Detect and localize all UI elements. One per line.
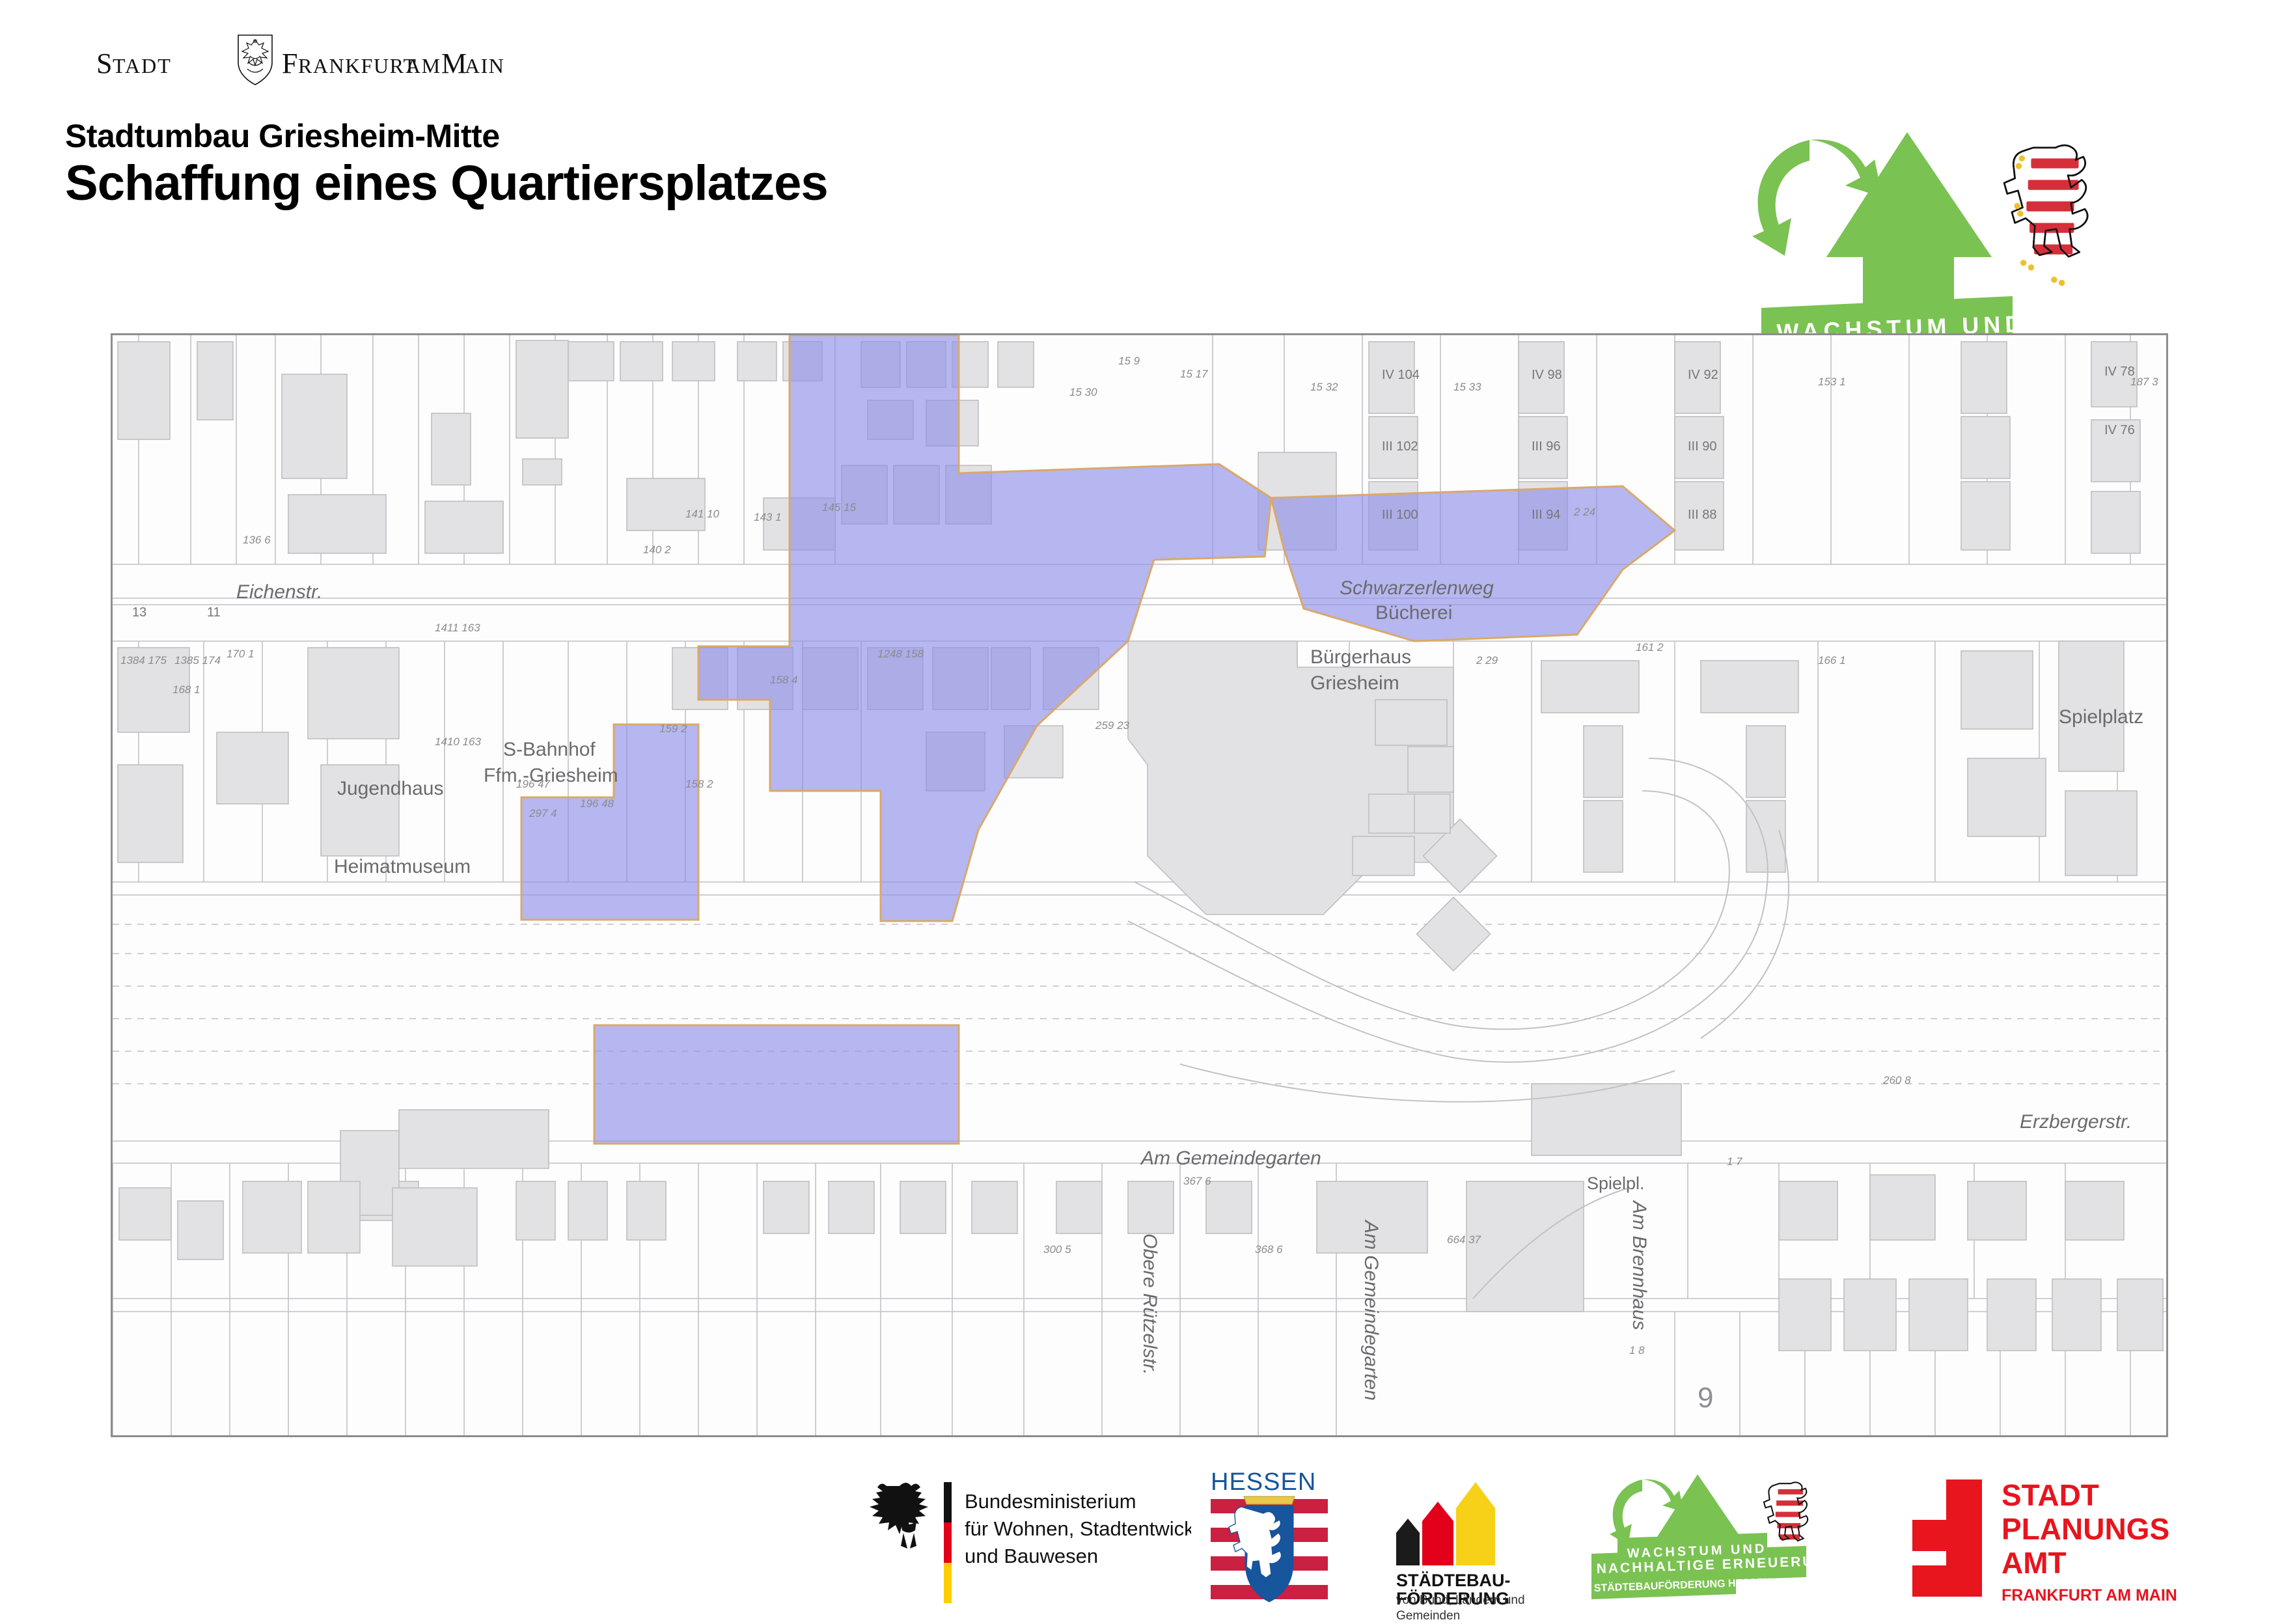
parcel-number: 1410 163 [435, 736, 481, 749]
street-label-am-gemeindegarten: Am Gemeindegarten [1141, 1148, 1321, 1170]
house-number: IV 104 [1382, 368, 1420, 383]
parcel-number: 187 3 [2130, 376, 2158, 389]
parcel-number: 259 23 [1095, 719, 1129, 732]
svg-text:S: S [96, 48, 113, 79]
parcel-number: 1385 174 [174, 654, 221, 667]
parcel-number: 15 32 [1310, 381, 1338, 394]
parcel-number: 1384 175 [120, 654, 167, 667]
parcel-number: 367 6 [1183, 1175, 1211, 1188]
parcel-number: 11 [207, 605, 221, 620]
house-number: III 96 [1532, 439, 1560, 454]
house-number: IV 76 [2104, 423, 2135, 438]
three-houses-icon [1396, 1482, 1495, 1565]
house-number: III 94 [1532, 508, 1560, 523]
poi-buergerhaus: Bürgerhaus [1310, 646, 1411, 668]
parcel-number: 136 6 [243, 534, 271, 547]
parcel-number: 15 33 [1453, 381, 1481, 394]
parcel-number: 1411 163 [435, 622, 480, 635]
poi-jugendhaus: Jugendhaus [337, 778, 443, 800]
parcel-number: 143 1 [754, 511, 782, 524]
map-bottom-number: 9 [1698, 1382, 1713, 1414]
quartiersplatz-highlight-south [594, 1025, 959, 1144]
stadtplanungsamt-logo: STADT PLANUNGS AMT FRANKFURT AM MAIN [1881, 1468, 2187, 1611]
poi-buergerhaus-2: Griesheim [1310, 672, 1399, 695]
parcel-number: 145 15 [822, 501, 856, 514]
page-subtitle: Stadtumbau Griesheim-Mitte [65, 117, 500, 155]
parcel-number: 168 1 [172, 683, 200, 696]
wachstum-erneuerung-footer-logo: WACHSTUM UND NACHHALTIGE ERNEUERUNG STÄD… [1591, 1468, 1865, 1611]
svg-text:AM: AM [406, 54, 441, 77]
parcel-number: 2 24 [1574, 506, 1595, 519]
bmwsb-line3: und Bauwesen [965, 1545, 1098, 1567]
svg-text:TADT: TADT [113, 54, 172, 77]
cadastral-map[interactable]: Eichenstr. Schwarzerlenweg Am Gemeindega… [111, 333, 2168, 1437]
bmwsb-line1: Bundesministerium [965, 1490, 1136, 1513]
parcel-number: 1 7 [1727, 1155, 1742, 1168]
hessen-coat-of-arms-icon [1211, 1496, 1328, 1602]
parcel-number: 297 4 [529, 807, 557, 820]
street-label-obere-ruetzelstr: Obere Rützelstr. [1138, 1233, 1161, 1375]
parcel-number: 140 2 [643, 544, 671, 557]
parcel-number: 1 8 [1629, 1344, 1645, 1357]
street-label-am-gemeindegarten-2: Am Gemeindegarten [1360, 1220, 1382, 1401]
stadtplanungsamt-mark-icon [1912, 1479, 1982, 1597]
footer-logos: Bundesministerium für Wohnen, Stadtentwi… [0, 1468, 2284, 1614]
staedtebau-sub2: Gemeinden [1396, 1608, 1525, 1624]
svg-text:F: F [282, 48, 297, 79]
parcel-number: 15 30 [1069, 386, 1097, 399]
german-flag-bar [944, 1482, 952, 1603]
house-number: III 88 [1688, 508, 1716, 523]
parcel-number: 159 2 [659, 723, 687, 736]
parcel-number: 15 9 [1118, 355, 1140, 368]
bmwsb-logo: Bundesministerium für Wohnen, Stadtentwi… [866, 1468, 1191, 1611]
parcel-number: 166 1 [1818, 654, 1846, 667]
street-label-am-brennhaus: Am Brennhaus [1628, 1201, 1650, 1330]
hessen-logo: HESSEN [1207, 1468, 1331, 1611]
staedtebaufoerderung-logo: STÄDTEBAU- FÖRDERUNG von Bund, Ländern u… [1390, 1468, 1539, 1611]
page-title: Schaffung eines Quartiersplatzes [65, 155, 828, 212]
svg-text:M: M [441, 48, 467, 79]
hessen-wordmark: HESSEN [1211, 1468, 1316, 1496]
hessen-lion-icon [2004, 145, 2087, 286]
poi-spielpl: Spielpl. [1587, 1174, 1645, 1194]
parcel-number: 664 37 [1447, 1233, 1481, 1246]
parcel-number: 153 1 [1818, 376, 1846, 389]
poi-spielplatz: Spielplatz [2059, 706, 2143, 728]
staedtebau-line1: STÄDTEBAU- [1396, 1571, 1511, 1590]
frankfurt-eagle-crest-icon [238, 35, 272, 85]
parcel-number: 1248 158 [877, 648, 924, 661]
street-label-erzbergerstr: Erzbergerstr. [2020, 1111, 2132, 1133]
house-number: III 90 [1688, 439, 1716, 454]
parcel-number: 196 48 [580, 797, 614, 810]
parcel-number: 368 6 [1255, 1243, 1283, 1256]
parcel-number: 196 47 [516, 778, 550, 791]
poi-buecherei: Bücherei [1375, 602, 1452, 624]
poi-heimatmuseum: Heimatmuseum [334, 856, 471, 878]
spa-line2: PLANUNGS [2002, 1512, 2169, 1546]
parcel-number: 170 1 [227, 648, 255, 661]
house-number: IV 98 [1532, 368, 1562, 383]
parcel-number: 15 17 [1180, 368, 1208, 381]
parcel-number: 260 8 [1883, 1074, 1911, 1087]
poi-s-bahnhof-2: Ffm.-Griesheim [484, 765, 618, 787]
parcel-number: 158 4 [770, 674, 798, 687]
spa-line4: FRANKFURT AM MAIN [2002, 1586, 2177, 1604]
staedtebau-sub1: von Bund, Ländern und [1396, 1593, 1525, 1608]
parcel-number: 141 10 [685, 508, 719, 521]
bundesadler-icon [870, 1483, 928, 1548]
parcel-number: 158 2 [685, 778, 713, 791]
parcel-number: 13 [132, 605, 146, 620]
svg-text:RANKFURT: RANKFURT [298, 54, 417, 77]
hessen-lion-icon [1764, 1482, 1808, 1541]
parcel-number: 300 5 [1043, 1243, 1071, 1256]
street-label-schwarzerlenweg: Schwarzerlenweg [1340, 577, 1494, 599]
parcel-number: 161 2 [1636, 641, 1664, 654]
poi-s-bahnhof: S-Bahnhof [503, 739, 596, 761]
spa-line1: STADT [2002, 1478, 2099, 1512]
street-label-eichenstr: Eichenstr. [236, 581, 322, 603]
city-logo: S TADT F RANKFURT AM M AIN [96, 33, 513, 88]
house-number: III 102 [1382, 439, 1418, 454]
house-number: III 100 [1382, 508, 1418, 523]
spa-line3: AMT [2002, 1546, 2067, 1580]
house-number: IV 92 [1688, 368, 1718, 383]
bmwsb-line2: für Wohnen, Stadtentwicklung [965, 1517, 1191, 1540]
svg-text:AIN: AIN [465, 54, 504, 77]
parcel-number: 2 29 [1476, 654, 1498, 667]
